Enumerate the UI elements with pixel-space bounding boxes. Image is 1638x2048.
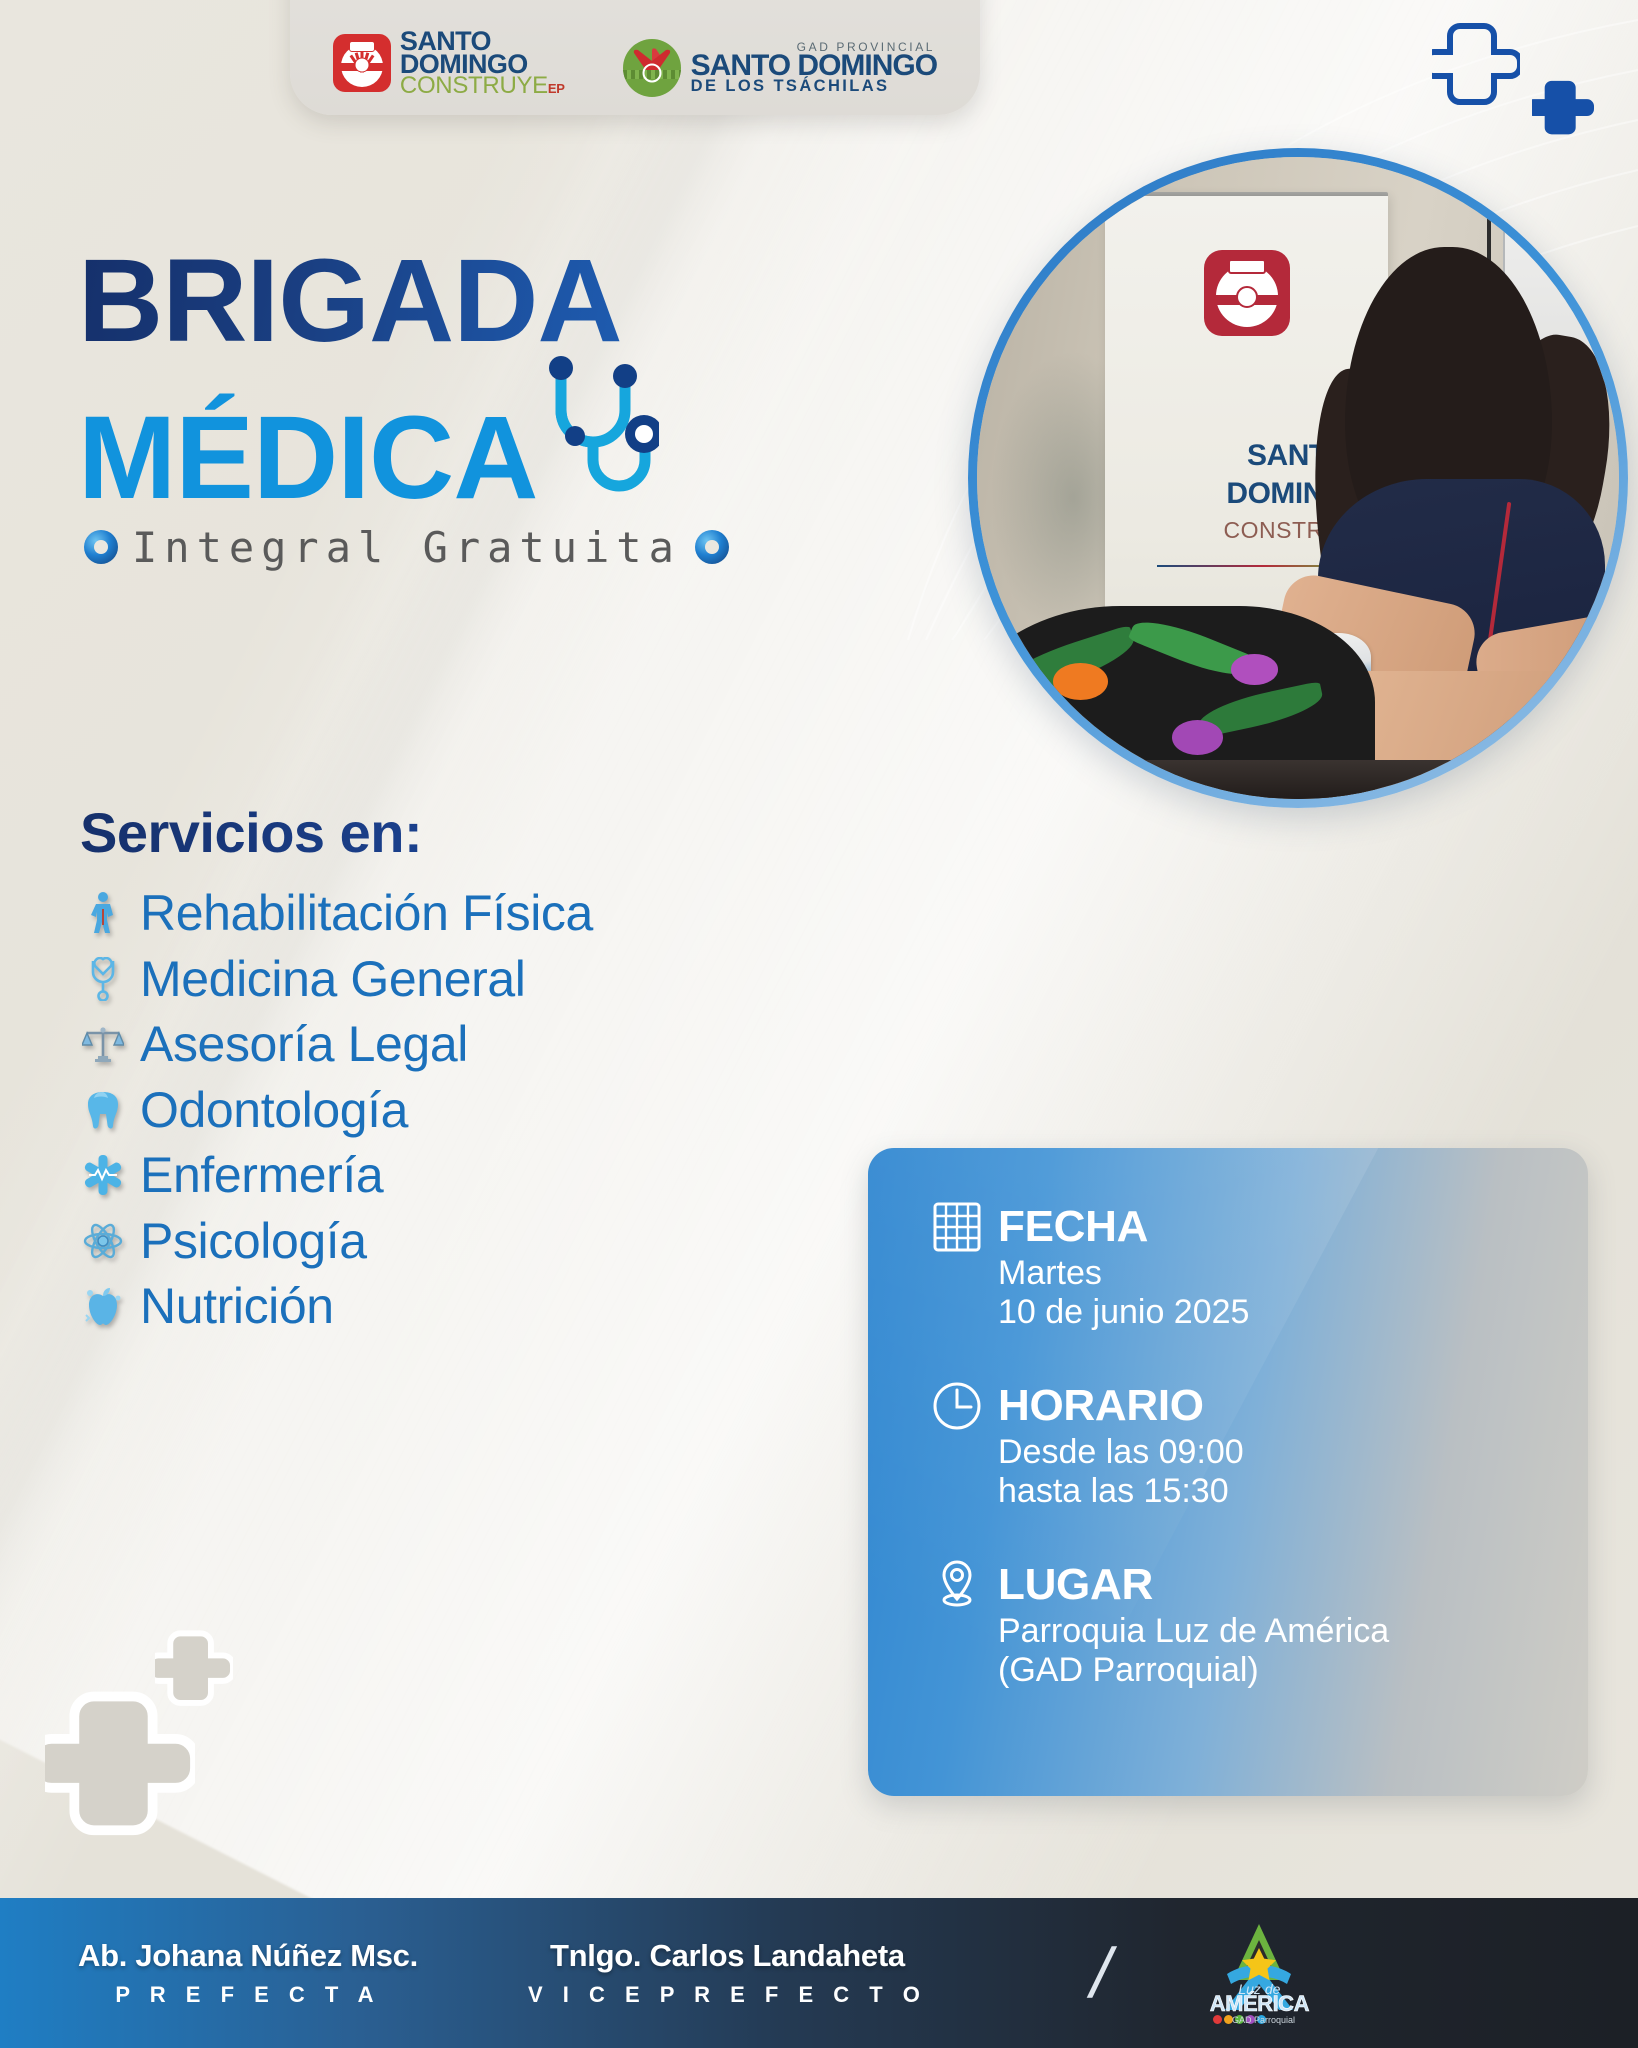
- santo-domingo-construye-mark-icon: [333, 34, 391, 92]
- subtitle-bullet-left-icon: [84, 530, 118, 564]
- info-title: FECHA: [998, 1202, 1148, 1252]
- service-label: Odontología: [140, 1084, 408, 1137]
- map-pin-icon: [930, 1558, 984, 1612]
- subtitle-bullet-right-icon: [695, 530, 729, 564]
- medical-cross-large-icon: [45, 1690, 195, 1840]
- service-item: Nutrición: [80, 1280, 840, 1333]
- service-item: Rehabilitación Física: [80, 887, 840, 940]
- info-block-lugar: LUGAR Parroquia Luz de América (GAD Parr…: [930, 1558, 1588, 1691]
- service-label: Nutrición: [140, 1280, 334, 1333]
- services-heading: Servicios en:: [80, 800, 840, 865]
- service-label: Rehabilitación Física: [140, 887, 593, 940]
- tooth-icon: [80, 1087, 126, 1133]
- event-info-card: FECHA Martes 10 de junio 2025 HORARIO De…: [868, 1148, 1588, 1796]
- medical-cross-small-icon: [155, 1630, 233, 1708]
- service-label: Psicología: [140, 1215, 367, 1268]
- title-subtitle: Integral Gratuita: [132, 523, 681, 572]
- service-item: Odontología: [80, 1084, 840, 1137]
- info-line: (GAD Parroquial): [998, 1651, 1588, 1690]
- footer-person-name: Ab. Johana Núñez Msc.: [78, 1938, 418, 1974]
- medical-cross-filled-icon: [1532, 78, 1594, 140]
- service-item: Asesoría Legal: [80, 1018, 840, 1071]
- clock-icon: [930, 1379, 984, 1433]
- photo-brigada-medica: SANTO DOMINGO CONSTRUYE REHABILITACIÓN F…: [977, 157, 1619, 799]
- calendar-icon: [930, 1200, 984, 1254]
- photo-circle-frame: SANTO DOMINGO CONSTRUYE REHABILITACIÓN F…: [968, 148, 1628, 808]
- brain-atom-icon: [80, 1218, 126, 1264]
- footer-person-name: Tnlgo. Carlos Landaheta: [528, 1938, 927, 1974]
- info-title: LUGAR: [998, 1560, 1153, 1610]
- header-logo-panel: SANTO DOMINGO CONSTRUYEEP GAD PROVINCIAL…: [290, 0, 980, 115]
- poster-footer: Ab. Johana Núñez Msc. P R E F E C T A Tn…: [0, 1898, 1638, 2048]
- luz-de-america-logo: Luz de AMÉRICA GAD Parroquial: [1207, 1918, 1311, 2028]
- logo-sdc-line3: CONSTRUYE: [400, 72, 548, 99]
- service-item: Enfermería: [80, 1149, 840, 1202]
- poster-canvas: SANTO DOMINGO CONSTRUYEEP GAD PROVINCIAL…: [0, 0, 1638, 2048]
- service-label: Medicina General: [140, 953, 525, 1006]
- info-title: HORARIO: [998, 1381, 1204, 1431]
- info-line: Desde las 09:00: [998, 1433, 1588, 1472]
- luz-de-america-line2: AMÉRICA: [1210, 1991, 1309, 2017]
- poster-title-block: BRIGADA MÉDICA Integral Gratuita: [78, 250, 729, 572]
- service-item: Medicina General: [80, 953, 840, 1006]
- info-line: 10 de junio 2025: [998, 1293, 1588, 1332]
- apple-nutrition-icon: [80, 1283, 126, 1329]
- footer-person-role: V I C E P R E F E C T O: [528, 1982, 927, 2008]
- physiotherapy-icon: [80, 890, 126, 936]
- footer-person-prefecta: Ab. Johana Núñez Msc. P R E F E C T A: [78, 1938, 418, 2008]
- logo-gad-provincial: GAD PROVINCIAL SANTO DOMINGO DE LOS TSÁC…: [623, 39, 937, 97]
- footer-person-viceprefecto: Tnlgo. Carlos Landaheta V I C E P R E F …: [528, 1938, 927, 2008]
- medical-cross-outline-icon: [1432, 22, 1520, 110]
- stethoscope-heart-icon: [80, 956, 126, 1002]
- footer-person-role: P R E F E C T A: [78, 1982, 418, 2008]
- luz-de-america-line3: GAD Parroquial: [1232, 2015, 1295, 2025]
- logo-santo-domingo-construye: SANTO DOMINGO CONSTRUYEEP: [333, 30, 565, 97]
- info-line: hasta las 15:30: [998, 1472, 1588, 1511]
- scales-of-justice-icon: [80, 1021, 126, 1067]
- stethoscope-icon: [531, 354, 659, 509]
- service-label: Enfermería: [140, 1149, 383, 1202]
- info-block-fecha: FECHA Martes 10 de junio 2025: [930, 1200, 1588, 1333]
- info-line: Parroquia Luz de América: [998, 1612, 1588, 1651]
- service-label: Asesoría Legal: [140, 1018, 468, 1071]
- star-of-life-icon: [80, 1152, 126, 1198]
- footer-separator: /: [1084, 1938, 1118, 2008]
- service-item: Psicología: [80, 1215, 840, 1268]
- gad-provincial-mark-icon: [623, 39, 681, 97]
- logo-sdc-suffix: EP: [548, 81, 565, 96]
- title-line-medica: MÉDICA: [78, 404, 537, 513]
- services-section: Servicios en: Rehabilitación Física: [80, 800, 840, 1346]
- title-line-brigada: BRIGADA: [78, 250, 729, 354]
- info-block-horario: HORARIO Desde las 09:00 hasta las 15:30: [930, 1379, 1588, 1512]
- logo-gad-line1: SANTO DOMINGO: [691, 52, 937, 79]
- info-line: Martes: [998, 1254, 1588, 1293]
